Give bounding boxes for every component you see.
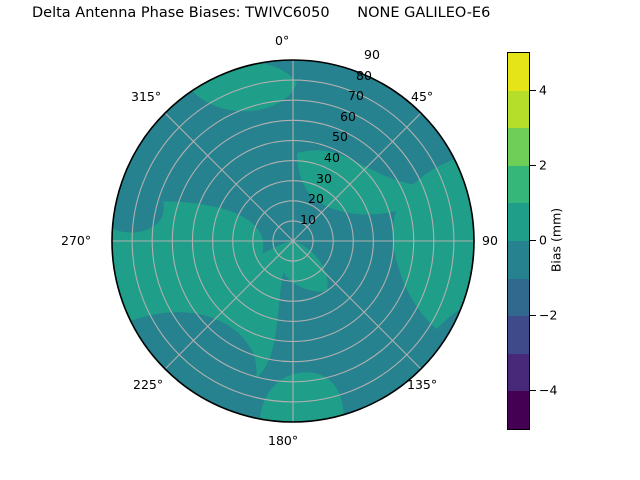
angular-tick-225: 225° <box>133 377 163 392</box>
colorbar-segment <box>508 316 529 354</box>
figure-canvas: Delta Antenna Phase Biases: TWIVC6050 NO… <box>0 0 640 480</box>
radial-tick-70: 70 <box>348 88 364 103</box>
angular-tick-270: 270° <box>61 233 91 248</box>
colorbar-axis-label: Bias (mm) <box>549 208 564 272</box>
radial-tick-40: 40 <box>324 150 340 165</box>
colorbar-ticklabel-2: 2 <box>539 158 547 173</box>
colorbar-segment <box>508 391 529 429</box>
radial-tick-90: 90 <box>364 47 380 62</box>
colorbar-segment <box>508 166 529 204</box>
radial-tick-10: 10 <box>300 212 316 227</box>
colorbar-tickmark-0 <box>530 240 536 241</box>
polar-plot[interactable]: 0° 45° 90 135° 180° 225° 270° 315° 10 20… <box>111 59 475 423</box>
colorbar-tickmark-2 <box>530 165 536 166</box>
colorbar-segment <box>508 128 529 166</box>
colorbar-segment <box>508 241 529 279</box>
colorbar-tickmark-neg2 <box>530 315 536 316</box>
colorbar-segment <box>508 279 529 317</box>
colorbar-ticklabel-0: 0 <box>539 233 547 248</box>
colorbar-segment <box>508 203 529 241</box>
angular-tick-0: 0° <box>275 33 289 48</box>
radial-tick-20: 20 <box>308 191 324 206</box>
colorbar-segment <box>508 53 529 91</box>
radial-tick-50: 50 <box>332 129 348 144</box>
radial-tick-60: 60 <box>340 109 356 124</box>
angular-tick-45: 45° <box>411 89 433 104</box>
colorbar-ticklabel-neg2: −2 <box>539 308 557 323</box>
angular-tick-90: 90 <box>482 233 498 248</box>
angular-tick-315: 315° <box>131 89 161 104</box>
page-title: Delta Antenna Phase Biases: TWIVC6050 NO… <box>32 5 490 21</box>
colorbar[interactable] <box>507 52 530 430</box>
polar-plot-svg <box>111 59 475 423</box>
colorbar-segment <box>508 354 529 392</box>
radial-tick-80: 80 <box>356 68 372 83</box>
colorbar-tickmark-neg4 <box>530 390 536 391</box>
polar-grid-spokes <box>112 60 474 422</box>
angular-tick-135: 135° <box>407 377 437 392</box>
colorbar-ticklabel-4: 4 <box>539 83 547 98</box>
colorbar-ticklabel-neg4: −4 <box>539 383 557 398</box>
colorbar-segment <box>508 91 529 129</box>
angular-tick-180: 180° <box>268 433 298 448</box>
colorbar-tickmark-4 <box>530 90 536 91</box>
radial-tick-30: 30 <box>316 171 332 186</box>
